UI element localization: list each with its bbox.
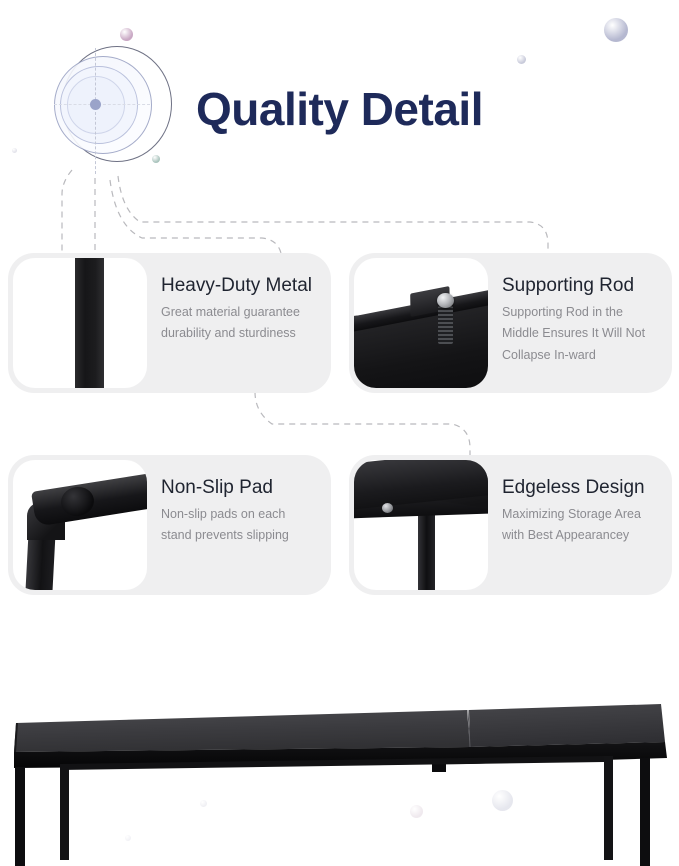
card-title: Supporting Rod: [502, 275, 662, 297]
card-title: Heavy-Duty Metal: [161, 275, 321, 297]
desk-corner-screw-shape: [382, 503, 393, 513]
rod-bolt-shape: [437, 293, 454, 308]
card-desc-line: Collapse In-ward: [502, 345, 662, 367]
card-text-block: Heavy-Duty Metal Great material guarante…: [147, 253, 331, 393]
card-desc-line: with Best Appearancey: [502, 525, 662, 547]
desk-top-right-slab: [469, 704, 665, 747]
sphere-periwinkle: [604, 18, 628, 42]
feature-card-supporting-rod[interactable]: Supporting Rod Supporting Rod in the Mid…: [349, 253, 672, 393]
desk-leg-back-right: [604, 756, 613, 860]
card-description: Maximizing Storage Area with Best Appear…: [502, 504, 662, 547]
card-desc-line: durability and sturdiness: [161, 323, 321, 345]
card-desc-line: Middle Ensures It Will Not: [502, 323, 662, 345]
feature-card-edgeless-design[interactable]: Edgeless Design Maximizing Storage Area …: [349, 455, 672, 595]
desk-center-support-tab: [432, 764, 446, 772]
desk-top-left-slab: [14, 710, 470, 752]
card-title: Non-Slip Pad: [161, 477, 321, 499]
desk-leg-front-left: [15, 767, 25, 866]
card-desc-line: Great material guarantee: [161, 302, 321, 324]
sphere-small-gray: [517, 55, 526, 64]
card-text-block: Edgeless Design Maximizing Storage Area …: [488, 455, 672, 595]
card-title: Edgeless Design: [502, 477, 662, 499]
card-desc-line: Supporting Rod in the: [502, 302, 662, 324]
radar-axis-vertical: [95, 48, 96, 174]
card-desc-line: Non-slip pads on each: [161, 504, 321, 526]
non-slip-pad-photo: [13, 460, 147, 590]
card-description: Supporting Rod in the Middle Ensures It …: [502, 302, 662, 367]
metal-leg-photo: [13, 258, 147, 388]
sphere-pink: [120, 28, 133, 41]
metal-leg-shape: [75, 258, 104, 388]
card-description: Great material guarantee durability and …: [161, 302, 321, 345]
card-description: Non-slip pads on each stand prevents sli…: [161, 504, 321, 547]
radar-rings-icon: [48, 46, 180, 178]
black-desk-photo: [0, 612, 679, 866]
card-desc-line: stand prevents slipping: [161, 525, 321, 547]
radar-center-dot: [90, 99, 101, 110]
rod-shaft-shape: [438, 306, 453, 344]
page-title: Quality Detail: [196, 82, 483, 136]
infographic-page: Quality Detail Heavy-Duty Metal Great ma…: [0, 0, 679, 866]
supporting-rod-photo: [354, 258, 488, 388]
card-text-block: Supporting Rod Supporting Rod in the Mid…: [488, 253, 672, 393]
card-text-block: Non-Slip Pad Non-slip pads on each stand…: [147, 455, 331, 595]
sphere-faint: [12, 148, 17, 153]
desk-corner-photo: [354, 460, 488, 590]
desk-leg-back-left: [60, 764, 69, 860]
desk-leg-front-right: [640, 758, 650, 866]
card-desc-line: Maximizing Storage Area: [502, 504, 662, 526]
feature-card-heavy-duty-metal[interactable]: Heavy-Duty Metal Great material guarante…: [8, 253, 331, 393]
feature-card-non-slip-pad[interactable]: Non-Slip Pad Non-slip pads on each stand…: [8, 455, 331, 595]
radar-axis-horizontal: [54, 104, 150, 105]
